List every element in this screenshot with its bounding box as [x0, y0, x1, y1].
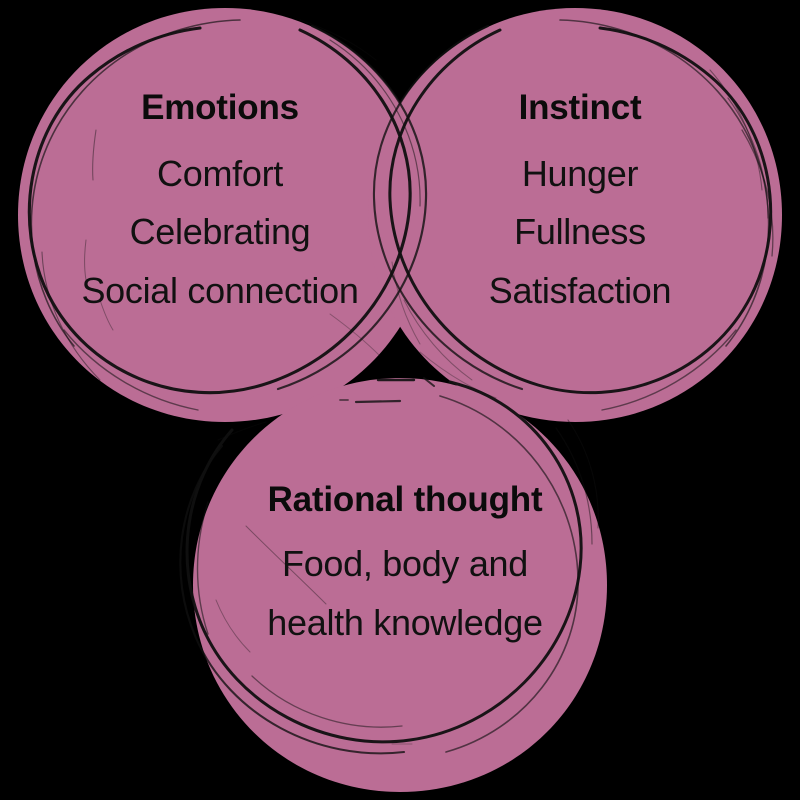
- lobe-item: Hunger: [450, 145, 710, 203]
- lobe-emotions: Emotions Comfort Celebrating Social conn…: [25, 90, 415, 320]
- lobe-items-rational-thought: Food, body and health knowledge: [215, 534, 595, 653]
- lobe-item: Fullness: [450, 203, 710, 261]
- diagram-canvas: Emotions Comfort Celebrating Social conn…: [0, 0, 800, 800]
- lobe-item: Satisfaction: [450, 262, 710, 320]
- lobe-item: Food, body and: [215, 534, 595, 593]
- lobe-title-rational-thought: Rational thought: [215, 482, 595, 517]
- lobe-item: Comfort: [25, 145, 415, 203]
- lobe-items-emotions: Comfort Celebrating Social connection: [25, 145, 415, 320]
- lobe-item: health knowledge: [215, 593, 595, 652]
- lobe-title-instinct: Instinct: [450, 90, 710, 125]
- lobe-instinct: Instinct Hunger Fullness Satisfaction: [450, 90, 710, 320]
- lobe-title-emotions: Emotions: [25, 90, 415, 125]
- lobe-rational-thought: Rational thought Food, body and health k…: [215, 482, 595, 653]
- lobe-items-instinct: Hunger Fullness Satisfaction: [450, 145, 710, 320]
- lobe-item: Social connection: [25, 262, 415, 320]
- lobe-item: Celebrating: [25, 203, 415, 261]
